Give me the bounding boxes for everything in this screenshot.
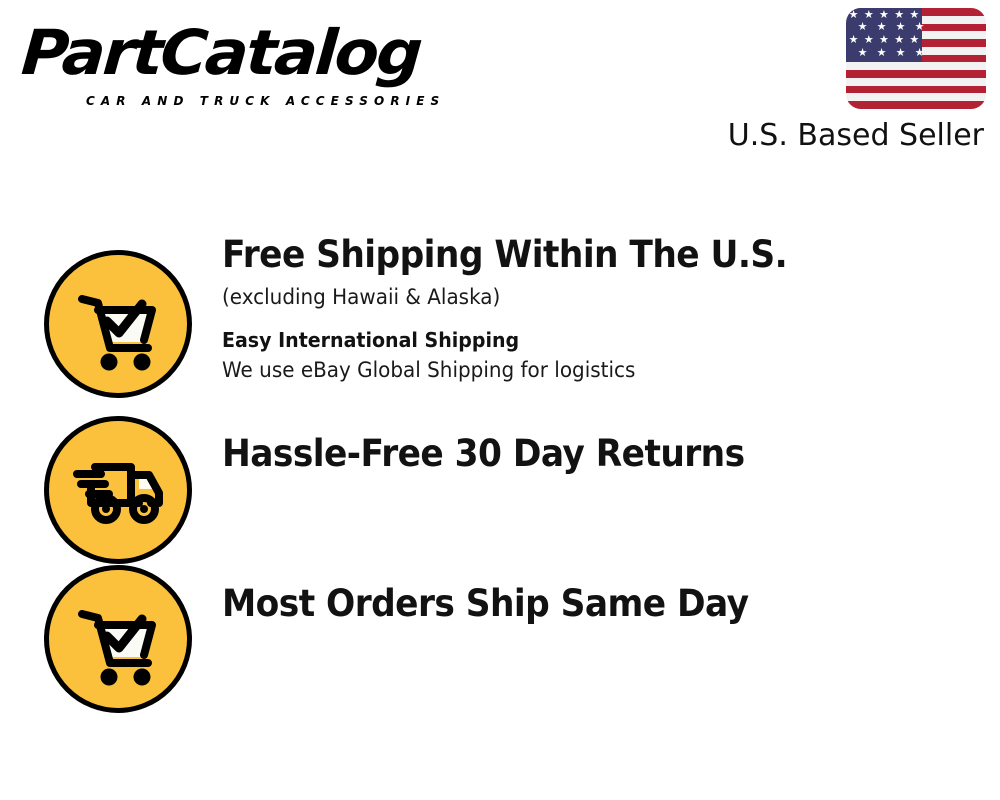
feature-icon-wrapper [44, 250, 192, 398]
feature-note: (excluding Hawaii & Alaska) [222, 282, 944, 312]
feature-icon-wrapper [44, 416, 192, 564]
flag-star-row: ★★★★★ [846, 34, 922, 48]
brand-wordmark: PartCatalog [19, 22, 512, 84]
feature-item-free-shipping: Free Shipping Within The U.S. (excluding… [0, 232, 1000, 403]
us-based-seller-badge: ★★★★★ ★★★★ ★★★★★ ★★★★ U.S. Based Seller [706, 8, 986, 153]
partcatalog-logo[interactable]: PartCatalog CAR AND TRUCK ACCESSORIES [24, 22, 494, 117]
feature-list: Free Shipping Within The U.S. (excluding… [0, 232, 1000, 720]
feature-item-same-day-ship: Most Orders Ship Same Day [0, 549, 1000, 720]
flag-star-row: ★★★★ [846, 21, 936, 35]
brand-tagline: CAR AND TRUCK ACCESSORIES [86, 94, 445, 108]
feature-title: Hassle-Free 30 Day Returns [222, 431, 929, 477]
feature-text-block: Most Orders Ship Same Day [222, 581, 982, 627]
us-based-seller-label: U.S. Based Seller [706, 119, 986, 153]
shopping-cart-check-icon [44, 565, 192, 713]
feature-title: Free Shipping Within The U.S. [222, 232, 929, 278]
flag-stripe [846, 86, 986, 94]
feature-title: Most Orders Ship Same Day [222, 581, 929, 627]
feature-sub-note: We use eBay Global Shipping for logistic… [222, 355, 944, 385]
us-flag-icon: ★★★★★ ★★★★ ★★★★★ ★★★★ [846, 8, 986, 109]
feature-sub-title: Easy International Shipping [222, 326, 944, 354]
flag-stripe [846, 70, 986, 78]
flag-star-row: ★★★★ [846, 47, 936, 61]
feature-icon-wrapper [44, 565, 192, 713]
shopping-cart-check-icon [44, 250, 192, 398]
feature-item-returns: Hassle-Free 30 Day Returns [0, 403, 1000, 549]
delivery-truck-icon [44, 416, 192, 564]
feature-text-block: Hassle-Free 30 Day Returns [222, 431, 982, 477]
feature-text-block: Free Shipping Within The U.S. (excluding… [222, 232, 982, 385]
flag-stripe [846, 93, 986, 101]
flag-stripe [846, 62, 986, 70]
flag-stripe [846, 101, 986, 109]
flag-canton: ★★★★★ ★★★★ ★★★★★ ★★★★ [846, 8, 922, 62]
header-bar: PartCatalog CAR AND TRUCK ACCESSORIES ★★… [0, 0, 1000, 170]
flag-stripe [846, 78, 986, 86]
